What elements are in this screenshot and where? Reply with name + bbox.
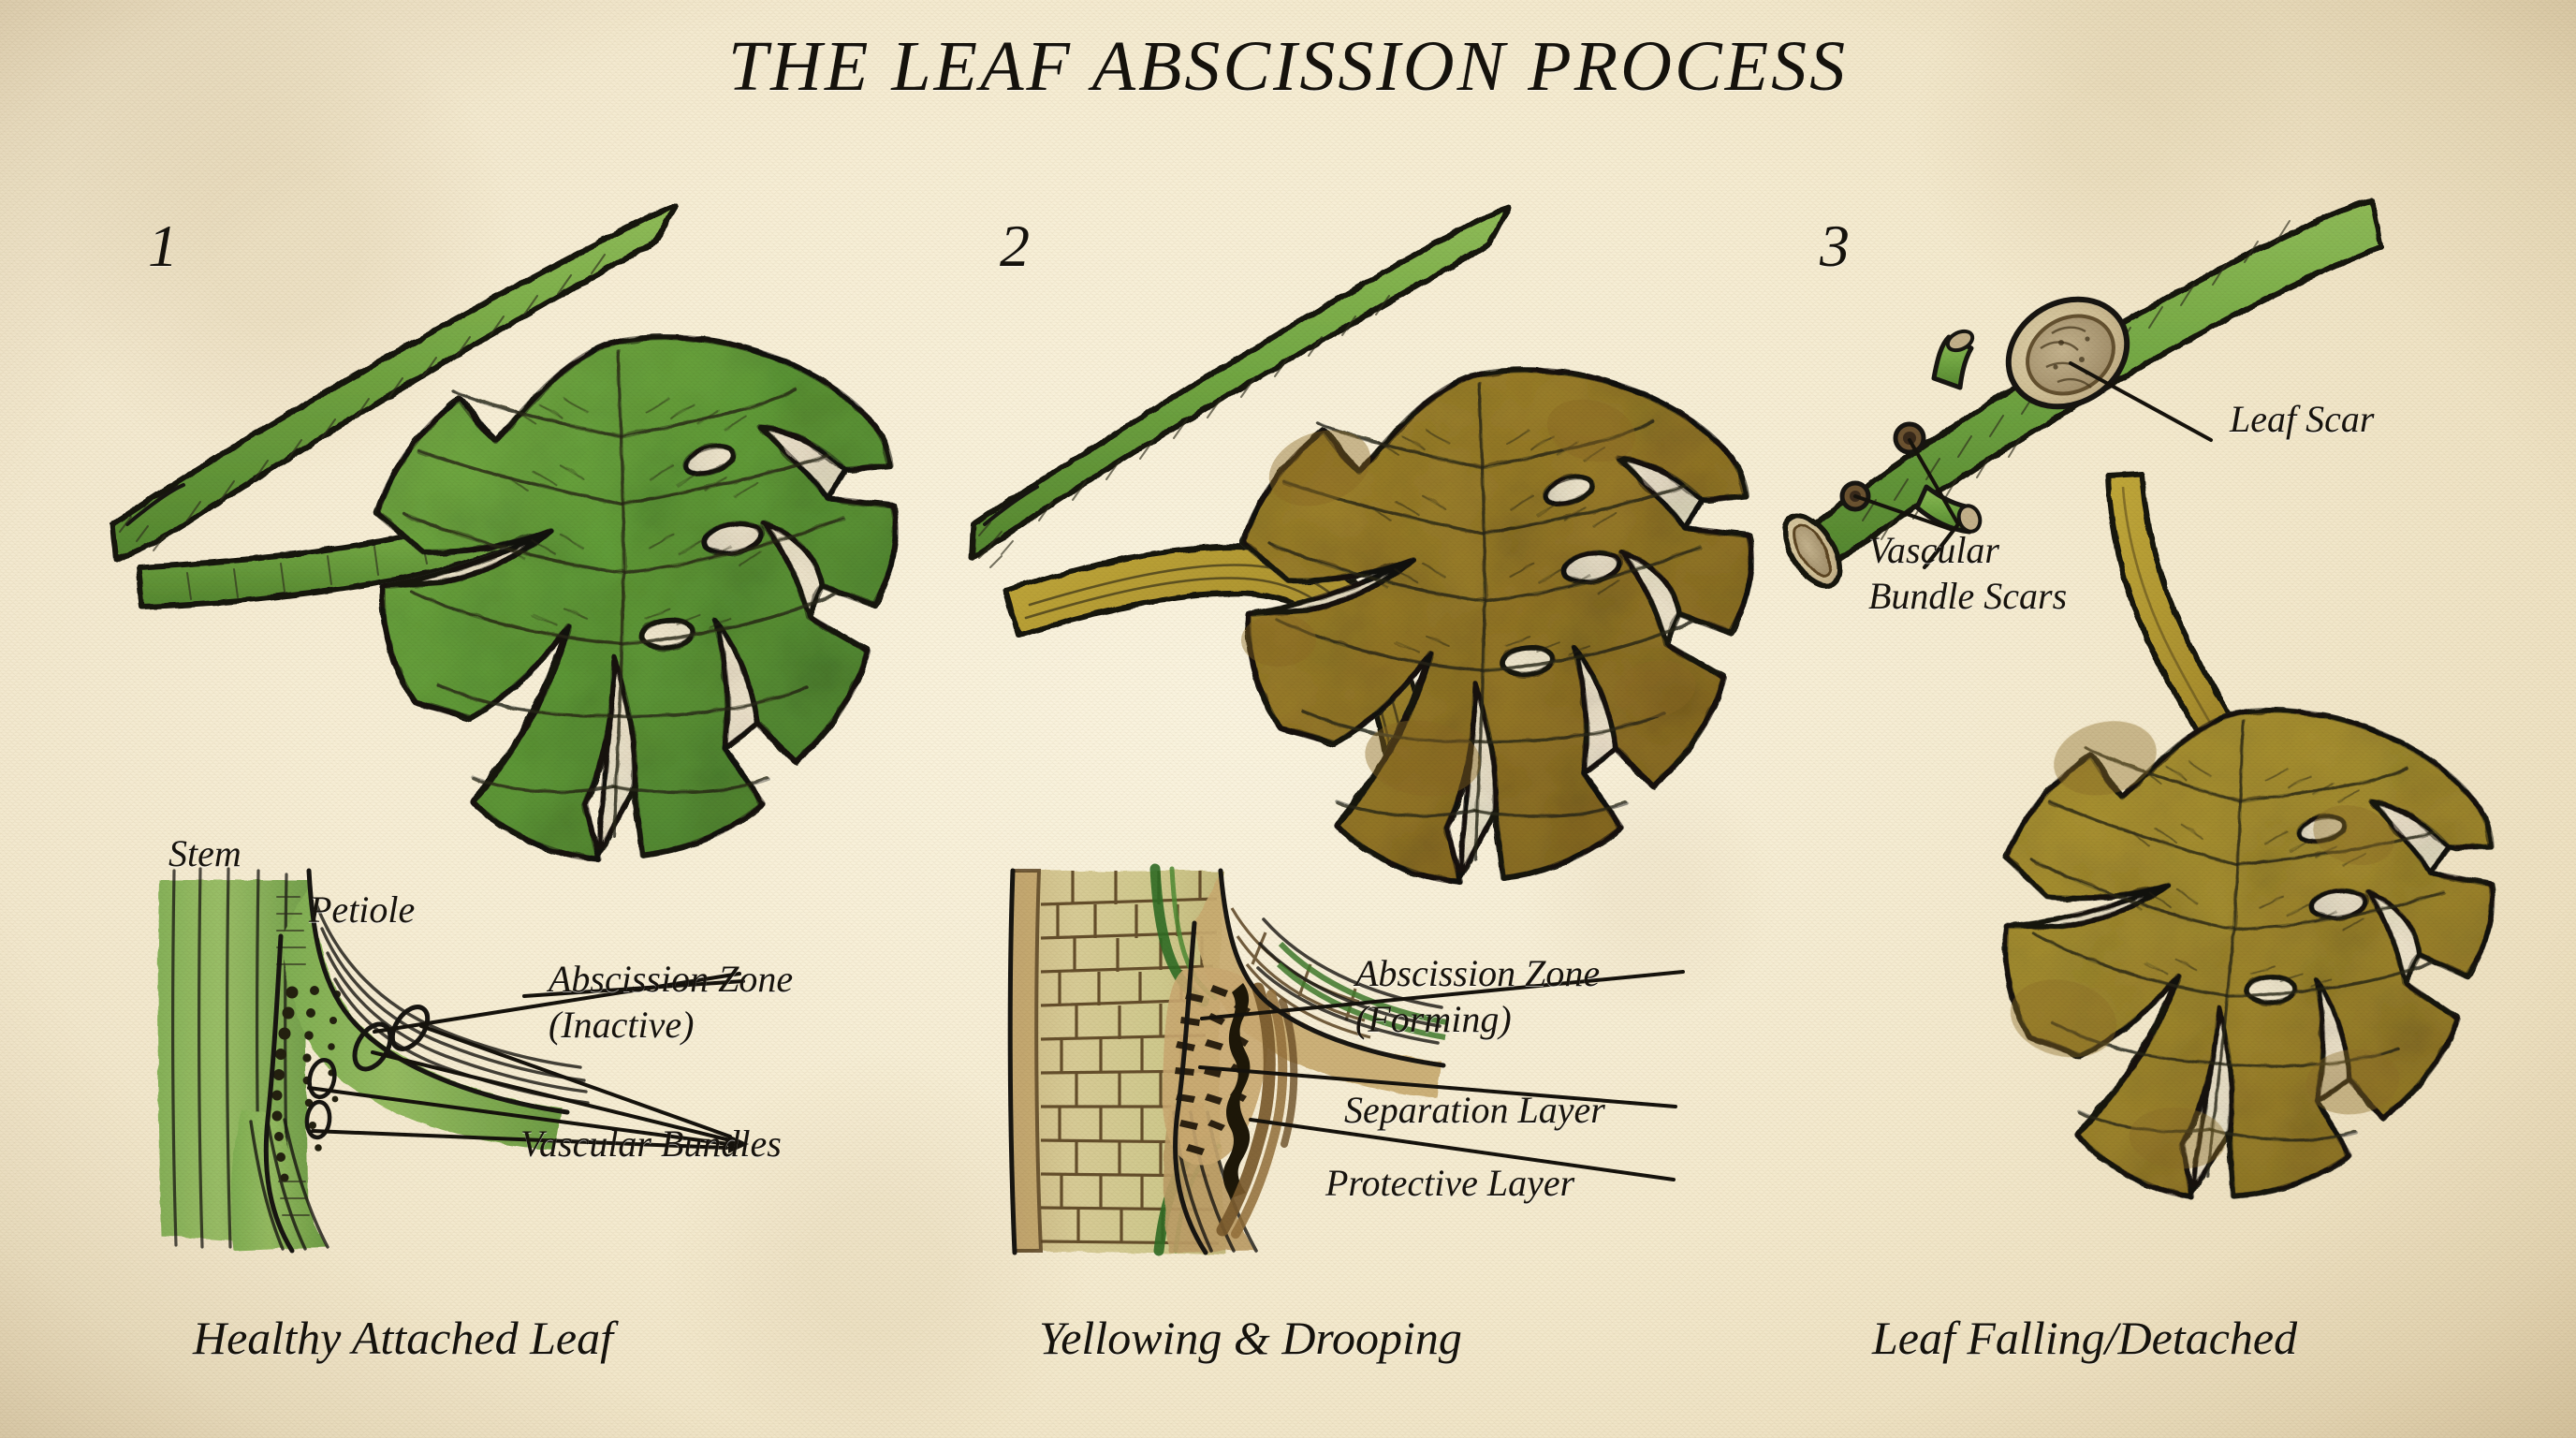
annotation-abscission-zone-inactive: Abscission Zone(Inactive) (549, 957, 793, 1049)
panel-3-caption: Leaf Falling/Detached (1872, 1311, 2297, 1365)
panel2-leaf (1241, 370, 1751, 882)
annotation-leaf-scar: Leaf Scar (2230, 397, 2374, 443)
illustration-plate: THE LEAF ABSCISSION PROCESS (0, 0, 2576, 1438)
botanical-artwork: .blade{stroke:#171511;stroke-width:6;str… (0, 0, 2576, 1438)
panel3-leaf (1983, 692, 2505, 1216)
panel-1-caption: Healthy Attached Leaf (193, 1311, 613, 1365)
panel-3-artwork (1774, 200, 2505, 1216)
annotation-line-2: (Forming) (1355, 998, 1512, 1040)
annotation-line-1: Abscission Zone (549, 958, 793, 1000)
step-number-2: 2 (1000, 212, 1030, 281)
annotation-line-2: Bundle Scars (1868, 575, 2067, 617)
page-title: THE LEAF ABSCISSION PROCESS (0, 26, 2576, 108)
annotation-line-1: Abscission Zone (1355, 952, 1600, 994)
panel1-leaf (377, 337, 896, 859)
annotation-vascular-bundles: Vascular Bundles (520, 1122, 782, 1167)
annotation-separation-layer: Separation Layer (1344, 1088, 1605, 1134)
step-number-1: 1 (148, 212, 178, 281)
annotation-vascular-bundle-scars: VascularBundle Scars (1868, 528, 2067, 620)
panel-1-artwork (112, 206, 896, 1251)
panel2-abscission-zone (1163, 967, 1268, 1165)
panel-2-caption: Yellowing & Drooping (1039, 1311, 1462, 1365)
annotation-line-1: Vascular (1868, 529, 1999, 571)
annotation-abscission-zone-forming: Abscission Zone(Forming) (1355, 951, 1600, 1043)
annotation-stem: Stem (168, 831, 241, 877)
step-number-3: 3 (1820, 212, 1850, 281)
annotation-protective-layer: Protective Layer (1325, 1161, 1574, 1207)
annotation-line-2: (Inactive) (549, 1004, 694, 1046)
annotation-petiole: Petiole (309, 888, 415, 933)
